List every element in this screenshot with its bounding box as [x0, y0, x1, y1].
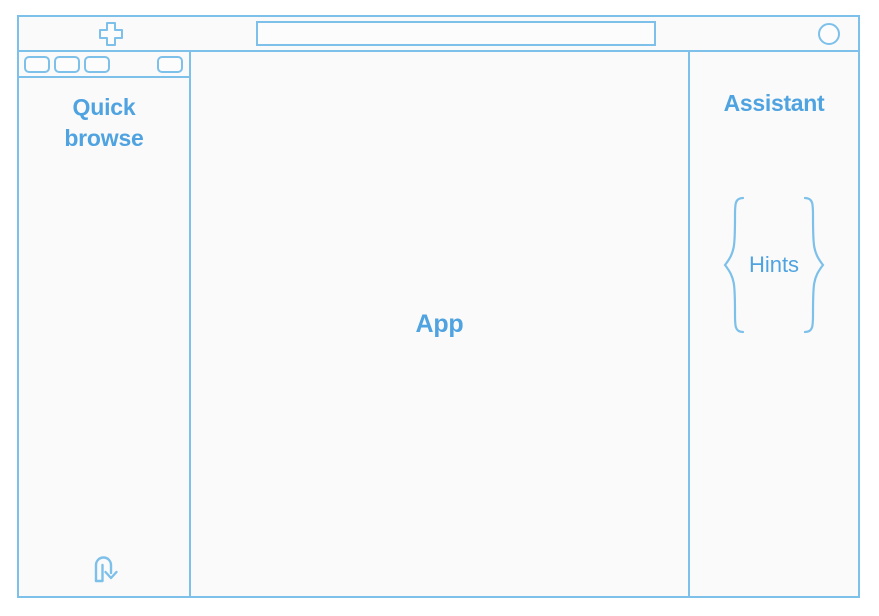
close-brace-icon: [801, 194, 827, 336]
assistant-pane: Assistant Hints: [688, 52, 858, 596]
quick-browse-sidebar: Quick browse: [19, 52, 191, 596]
sidebar-title-line-1: Quick: [19, 92, 189, 123]
browser-window-frame: Quick browse App: [17, 15, 860, 598]
sidebar-tool-1-button[interactable]: [24, 56, 50, 73]
app-label: App: [416, 310, 464, 339]
sidebar-title: Quick browse: [19, 92, 189, 154]
plus-icon[interactable]: [97, 21, 125, 47]
sidebar-toolbar: [19, 52, 189, 78]
app-content-pane[interactable]: App: [191, 52, 688, 596]
address-bar[interactable]: [256, 21, 656, 46]
assistant-title: Assistant: [690, 90, 858, 117]
sidebar-title-line-2: browse: [19, 123, 189, 154]
u-turn-arrow-icon[interactable]: [87, 552, 121, 584]
wireframe-root: Quick browse App: [0, 0, 879, 616]
hints-label: Hints: [749, 252, 799, 278]
browser-chrome-bar: [19, 17, 858, 52]
sidebar-tool-3-button[interactable]: [84, 56, 110, 73]
sidebar-footer: [19, 552, 189, 584]
profile-circle-icon[interactable]: [818, 23, 840, 45]
sidebar-tool-4-button[interactable]: [157, 56, 183, 73]
window-body: Quick browse App: [19, 52, 858, 596]
hints-block: Hints: [690, 192, 858, 337]
open-brace-icon: [721, 194, 747, 336]
sidebar-tool-2-button[interactable]: [54, 56, 80, 73]
